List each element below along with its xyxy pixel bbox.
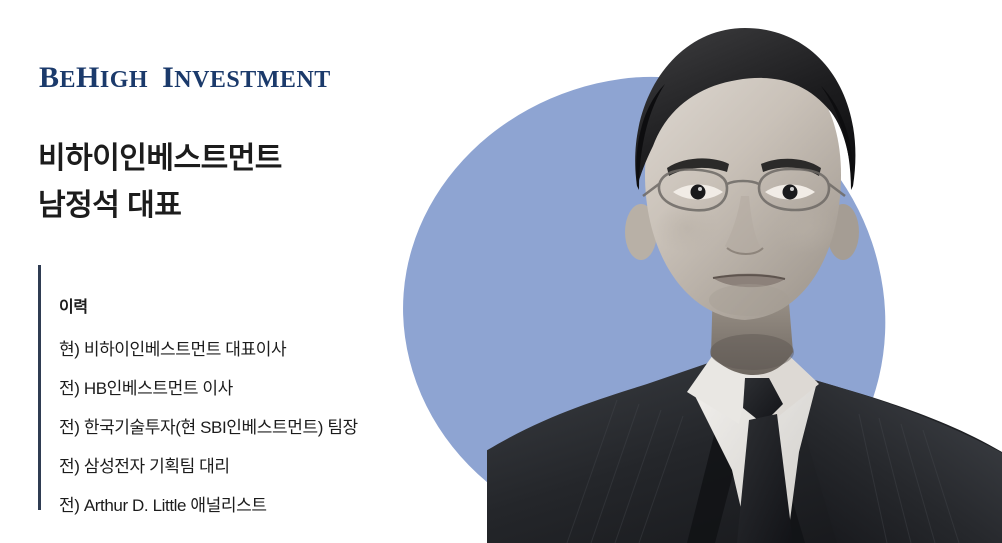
brand-letters-igh: IGH bbox=[100, 67, 148, 93]
page-title: 비하이인베스트먼트 남정석 대표 bbox=[38, 136, 282, 229]
brand-letter-i: I bbox=[162, 61, 174, 94]
brand-letters-nvestment: NVESTMENT bbox=[174, 67, 331, 93]
brand-letter-b: B bbox=[39, 61, 60, 94]
career-item: 전) HB인베스트먼트 이사 bbox=[59, 380, 358, 397]
career-item: 전) Arthur D. Little 애널리스트 bbox=[59, 497, 358, 514]
portrait-photo bbox=[487, 0, 1002, 543]
career-item: 현) 비하이인베스트먼트 대표이사 bbox=[59, 341, 358, 358]
brand-wordmark: BEHIGHINVESTMENT bbox=[39, 61, 331, 95]
brand-letter-h: H bbox=[76, 61, 100, 94]
brand-letters-e: E bbox=[60, 67, 77, 93]
portrait-svg bbox=[487, 0, 1002, 543]
career-section-title: 이력 bbox=[59, 293, 358, 317]
headline-line-company: 비하이인베스트먼트 bbox=[38, 136, 282, 183]
headline-line-person: 남정석 대표 bbox=[38, 183, 282, 230]
slide-canvas: BEHIGHINVESTMENT 비하이인베스트먼트 남정석 대표 이력 현) … bbox=[0, 0, 1002, 543]
career-item: 전) 한국기술투자(현 SBI인베스트먼트) 팀장 bbox=[59, 419, 358, 436]
career-item: 전) 삼성전자 기획팀 대리 bbox=[59, 458, 358, 475]
career-section: 이력 현) 비하이인베스트먼트 대표이사 전) HB인베스트먼트 이사 전) 한… bbox=[38, 265, 358, 510]
